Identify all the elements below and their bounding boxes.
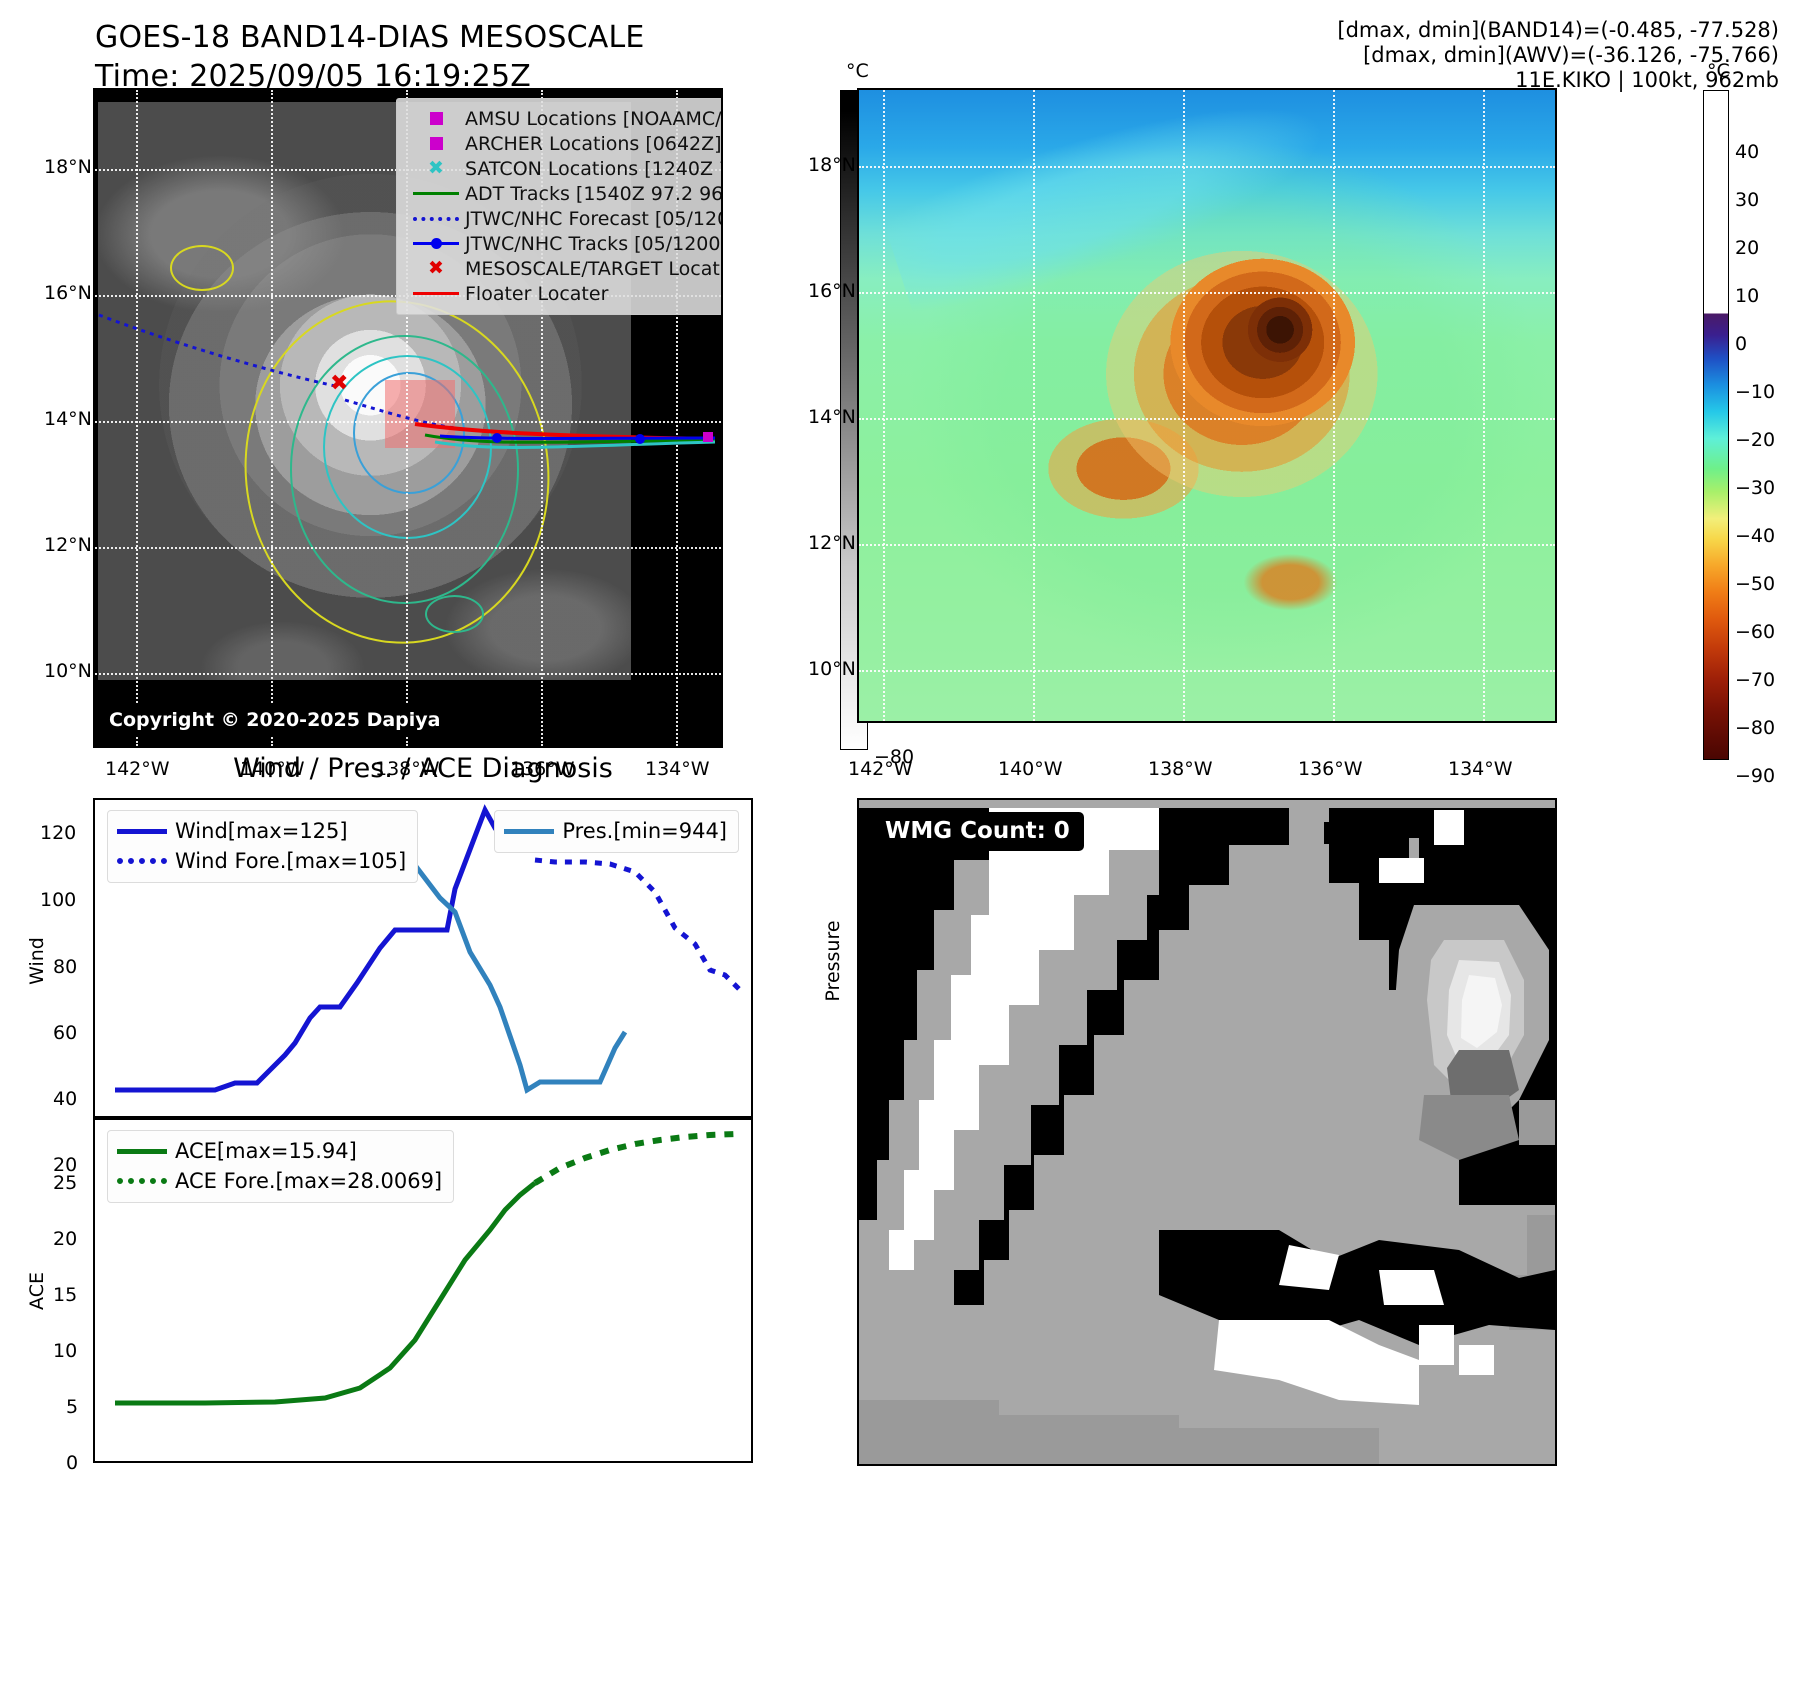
legend-item: JTWC/NHC Forecast [05/1200Z] <box>407 206 723 231</box>
gridline-lat-12n <box>95 547 721 549</box>
wind-tick: 100 <box>40 889 76 911</box>
line-with-dot-icon <box>407 242 465 245</box>
legend-label: JTWC/NHC Tracks [05/1200Z] <box>465 233 723 255</box>
ir-lat-tick-10n: 10°N <box>44 660 92 682</box>
ir-satellite-image-panel[interactable]: ✖ AMSU Locations [NOAAMC/0642Z 70 987] A… <box>93 88 723 748</box>
wmg-count-badge: WMG Count: 0 <box>873 812 1084 851</box>
awv-lon-tick-138w: 138°W <box>1148 758 1213 780</box>
awv-lat-tick-18n: 18°N <box>808 154 856 176</box>
mesoscale-target-box <box>385 380 455 448</box>
gridline-lon-136w <box>1333 90 1335 721</box>
legend-label: ADT Tracks [1540Z 97.2 965.9] <box>465 183 723 205</box>
colorbar-tick: 20 <box>1735 237 1759 259</box>
gridline-lat-14n <box>95 421 721 423</box>
awv-outer-band <box>868 88 1350 356</box>
square-marker-icon <box>407 112 465 125</box>
wind-forecast-line <box>535 860 740 990</box>
legend-item: Wind[max=125] <box>117 816 406 846</box>
awv-satellite-image-panel[interactable] <box>857 88 1557 723</box>
gridline-lat-14n <box>859 418 1555 420</box>
solid-line-icon <box>407 292 465 295</box>
diagnosis-chart-title: Wind / Pres. / ACE Diagnosis <box>93 753 753 784</box>
legend-item: JTWC/NHC Tracks [05/1200Z] <box>407 231 723 256</box>
awv-lon-tick-134w: 134°W <box>1448 758 1513 780</box>
legend-item: ✖ MESOSCALE/TARGET Location <box>407 256 723 281</box>
page-title: GOES-18 BAND14-DIAS MESOSCALE Time: 2025… <box>95 18 795 96</box>
x-marker-icon: ✖ <box>407 159 465 178</box>
legend-label: SATCON Locations [1240Z 77 976] <box>465 158 723 180</box>
ace-chart-panel[interactable]: ACE[max=15.94] ACE Fore.[max=28.0069] <box>93 1118 753 1463</box>
awv-colorbar: °C 40 30 20 10 0 −10 −20 −30 −40 −50 −60… <box>1703 60 1797 760</box>
gridline-lat-18n <box>859 166 1555 168</box>
contour-ring-green-small <box>425 595 484 633</box>
gridline-lon-140w <box>271 90 273 746</box>
contour-ring-yellow-small <box>170 245 234 291</box>
square-marker-icon <box>407 137 465 150</box>
ace-axis-label: ACE <box>26 1251 48 1331</box>
colorbar-tick: −70 <box>1735 669 1775 691</box>
dotted-line-icon <box>407 217 465 221</box>
ace-tick: 15 <box>53 1284 77 1306</box>
legend-label: Wind Fore.[max=105] <box>175 849 406 873</box>
legend-item: ACE Fore.[max=28.0069] <box>117 1166 442 1196</box>
ir-lat-tick-12n: 12°N <box>44 534 92 556</box>
ace-legend: ACE[max=15.94] ACE Fore.[max=28.0069] <box>107 1130 454 1203</box>
awv-lon-tick-136w: 136°W <box>1298 758 1363 780</box>
stats-band14: [dmax, dmin](BAND14)=(-0.485, -77.528) <box>1337 18 1779 43</box>
legend-label: JTWC/NHC Forecast [05/1200Z] <box>465 208 723 230</box>
solid-line-icon <box>117 1149 175 1154</box>
wind-pressure-chart-panel[interactable]: Wind[max=125] Wind Fore.[max=105] Pres.[… <box>93 798 753 1118</box>
wind-tick: 120 <box>40 822 76 844</box>
pressure-legend: Pres.[min=944] <box>494 810 739 853</box>
ace-tick: 10 <box>53 1340 77 1362</box>
awv-lat-tick-12n: 12°N <box>808 532 856 554</box>
ace-tick: 5 <box>66 1396 78 1418</box>
ace-tick: 20 <box>53 1228 77 1250</box>
solid-line-icon <box>504 829 562 834</box>
x-marker-icon: ✖ <box>407 259 465 278</box>
colorbar-tick: −80 <box>1735 717 1775 739</box>
colorbar-tick: −50 <box>1735 573 1775 595</box>
legend-item: ARCHER Locations [0642Z] <box>407 131 723 156</box>
ir-lat-tick-18n: 18°N <box>44 156 92 178</box>
legend-label: ACE Fore.[max=28.0069] <box>175 1169 442 1193</box>
ir-map-legend: AMSU Locations [NOAAMC/0642Z 70 987] ARC… <box>396 98 723 315</box>
wmg-raster <box>859 800 1555 1464</box>
ir-lat-tick-14n: 14°N <box>44 408 92 430</box>
colorbar-tick: −90 <box>1735 765 1775 787</box>
legend-label: ACE[max=15.94] <box>175 1139 357 1163</box>
awv-imagery <box>859 90 1555 721</box>
ace-series-line <box>115 1183 535 1403</box>
legend-label: AMSU Locations [NOAAMC/0642Z 70 987] <box>465 108 723 130</box>
wind-legend: Wind[max=125] Wind Fore.[max=105] <box>107 810 418 883</box>
legend-label: MESOSCALE/TARGET Location <box>465 258 723 280</box>
title-line-1: GOES-18 BAND14-DIAS MESOSCALE <box>95 18 795 57</box>
awv-colorbar-gradient <box>1703 90 1729 760</box>
gridline-lon-142w <box>883 90 885 721</box>
legend-label: Wind[max=125] <box>175 819 348 843</box>
colorbar-tick: −10 <box>1735 381 1775 403</box>
awv-lat-tick-16n: 16°N <box>808 280 856 302</box>
awv-lat-tick-14n: 14°N <box>808 406 856 428</box>
wind-tick: 60 <box>53 1022 77 1044</box>
wind-axis-label: Wind <box>26 921 48 1001</box>
colorbar-tick: −60 <box>1735 621 1775 643</box>
solid-line-icon <box>117 829 175 834</box>
colorbar-tick: 10 <box>1735 285 1759 307</box>
dotted-line-icon <box>117 858 175 864</box>
colorbar-tick: −20 <box>1735 429 1775 451</box>
colorbar-tick: 0 <box>1735 333 1747 355</box>
gridline-lon-134w <box>1483 90 1485 721</box>
awv-lat-tick-10n: 10°N <box>808 658 856 680</box>
legend-item: Wind Fore.[max=105] <box>117 846 406 876</box>
legend-label: ARCHER Locations [0642Z] <box>465 133 722 155</box>
awv-lon-tick-142w: 142°W <box>848 758 913 780</box>
awv-colorbar-ticks: 40 30 20 10 0 −10 −20 −30 −40 −50 −60 −7… <box>1735 90 1795 760</box>
solid-line-icon <box>407 192 465 195</box>
ace-tick: 0 <box>66 1452 78 1474</box>
legend-item: ✖ SATCON Locations [1240Z 77 976] <box>407 156 723 181</box>
wmg-classification-panel[interactable]: WMG Count: 0 <box>857 798 1557 1466</box>
copyright-notice: Copyright © 2020-2025 Dapiya <box>101 705 452 736</box>
legend-label: Floater Locater <box>465 283 608 305</box>
awv-colorbar-unit: °C <box>1707 60 1730 82</box>
awv-lon-tick-140w: 140°W <box>998 758 1063 780</box>
gridline-lon-138w <box>1183 90 1185 721</box>
colorbar-tick: 40 <box>1735 141 1759 163</box>
colorbar-tick: −40 <box>1735 525 1775 547</box>
wind-tick: 80 <box>53 956 77 978</box>
ace-forecast-line <box>535 1134 735 1183</box>
ir-colorbar-unit: °C <box>846 60 869 82</box>
legend-item: Floater Locater <box>407 281 723 306</box>
dotted-line-icon <box>117 1178 175 1184</box>
legend-item: AMSU Locations [NOAAMC/0642Z 70 987] <box>407 106 723 131</box>
legend-item: Pres.[min=944] <box>504 816 727 846</box>
gridline-lon-142w <box>136 90 138 746</box>
ace-tick: 25 <box>53 1172 77 1194</box>
ir-sector-mask-left <box>95 90 98 746</box>
colorbar-tick: 30 <box>1735 189 1759 211</box>
gridline-lat-12n <box>859 544 1555 546</box>
legend-item: ACE[max=15.94] <box>117 1136 442 1166</box>
gridline-lon-140w <box>1033 90 1035 721</box>
legend-label: Pres.[min=944] <box>562 819 727 843</box>
wind-tick: 40 <box>53 1088 77 1110</box>
pressure-axis-label: Pressure <box>822 906 844 1016</box>
legend-item: ADT Tracks [1540Z 97.2 965.9] <box>407 181 723 206</box>
gridline-lat-10n <box>859 670 1555 672</box>
gridline-lat-16n <box>859 292 1555 294</box>
colorbar-tick: −30 <box>1735 477 1775 499</box>
gridline-lat-10n <box>95 673 721 675</box>
ir-lat-tick-16n: 16°N <box>44 282 92 304</box>
